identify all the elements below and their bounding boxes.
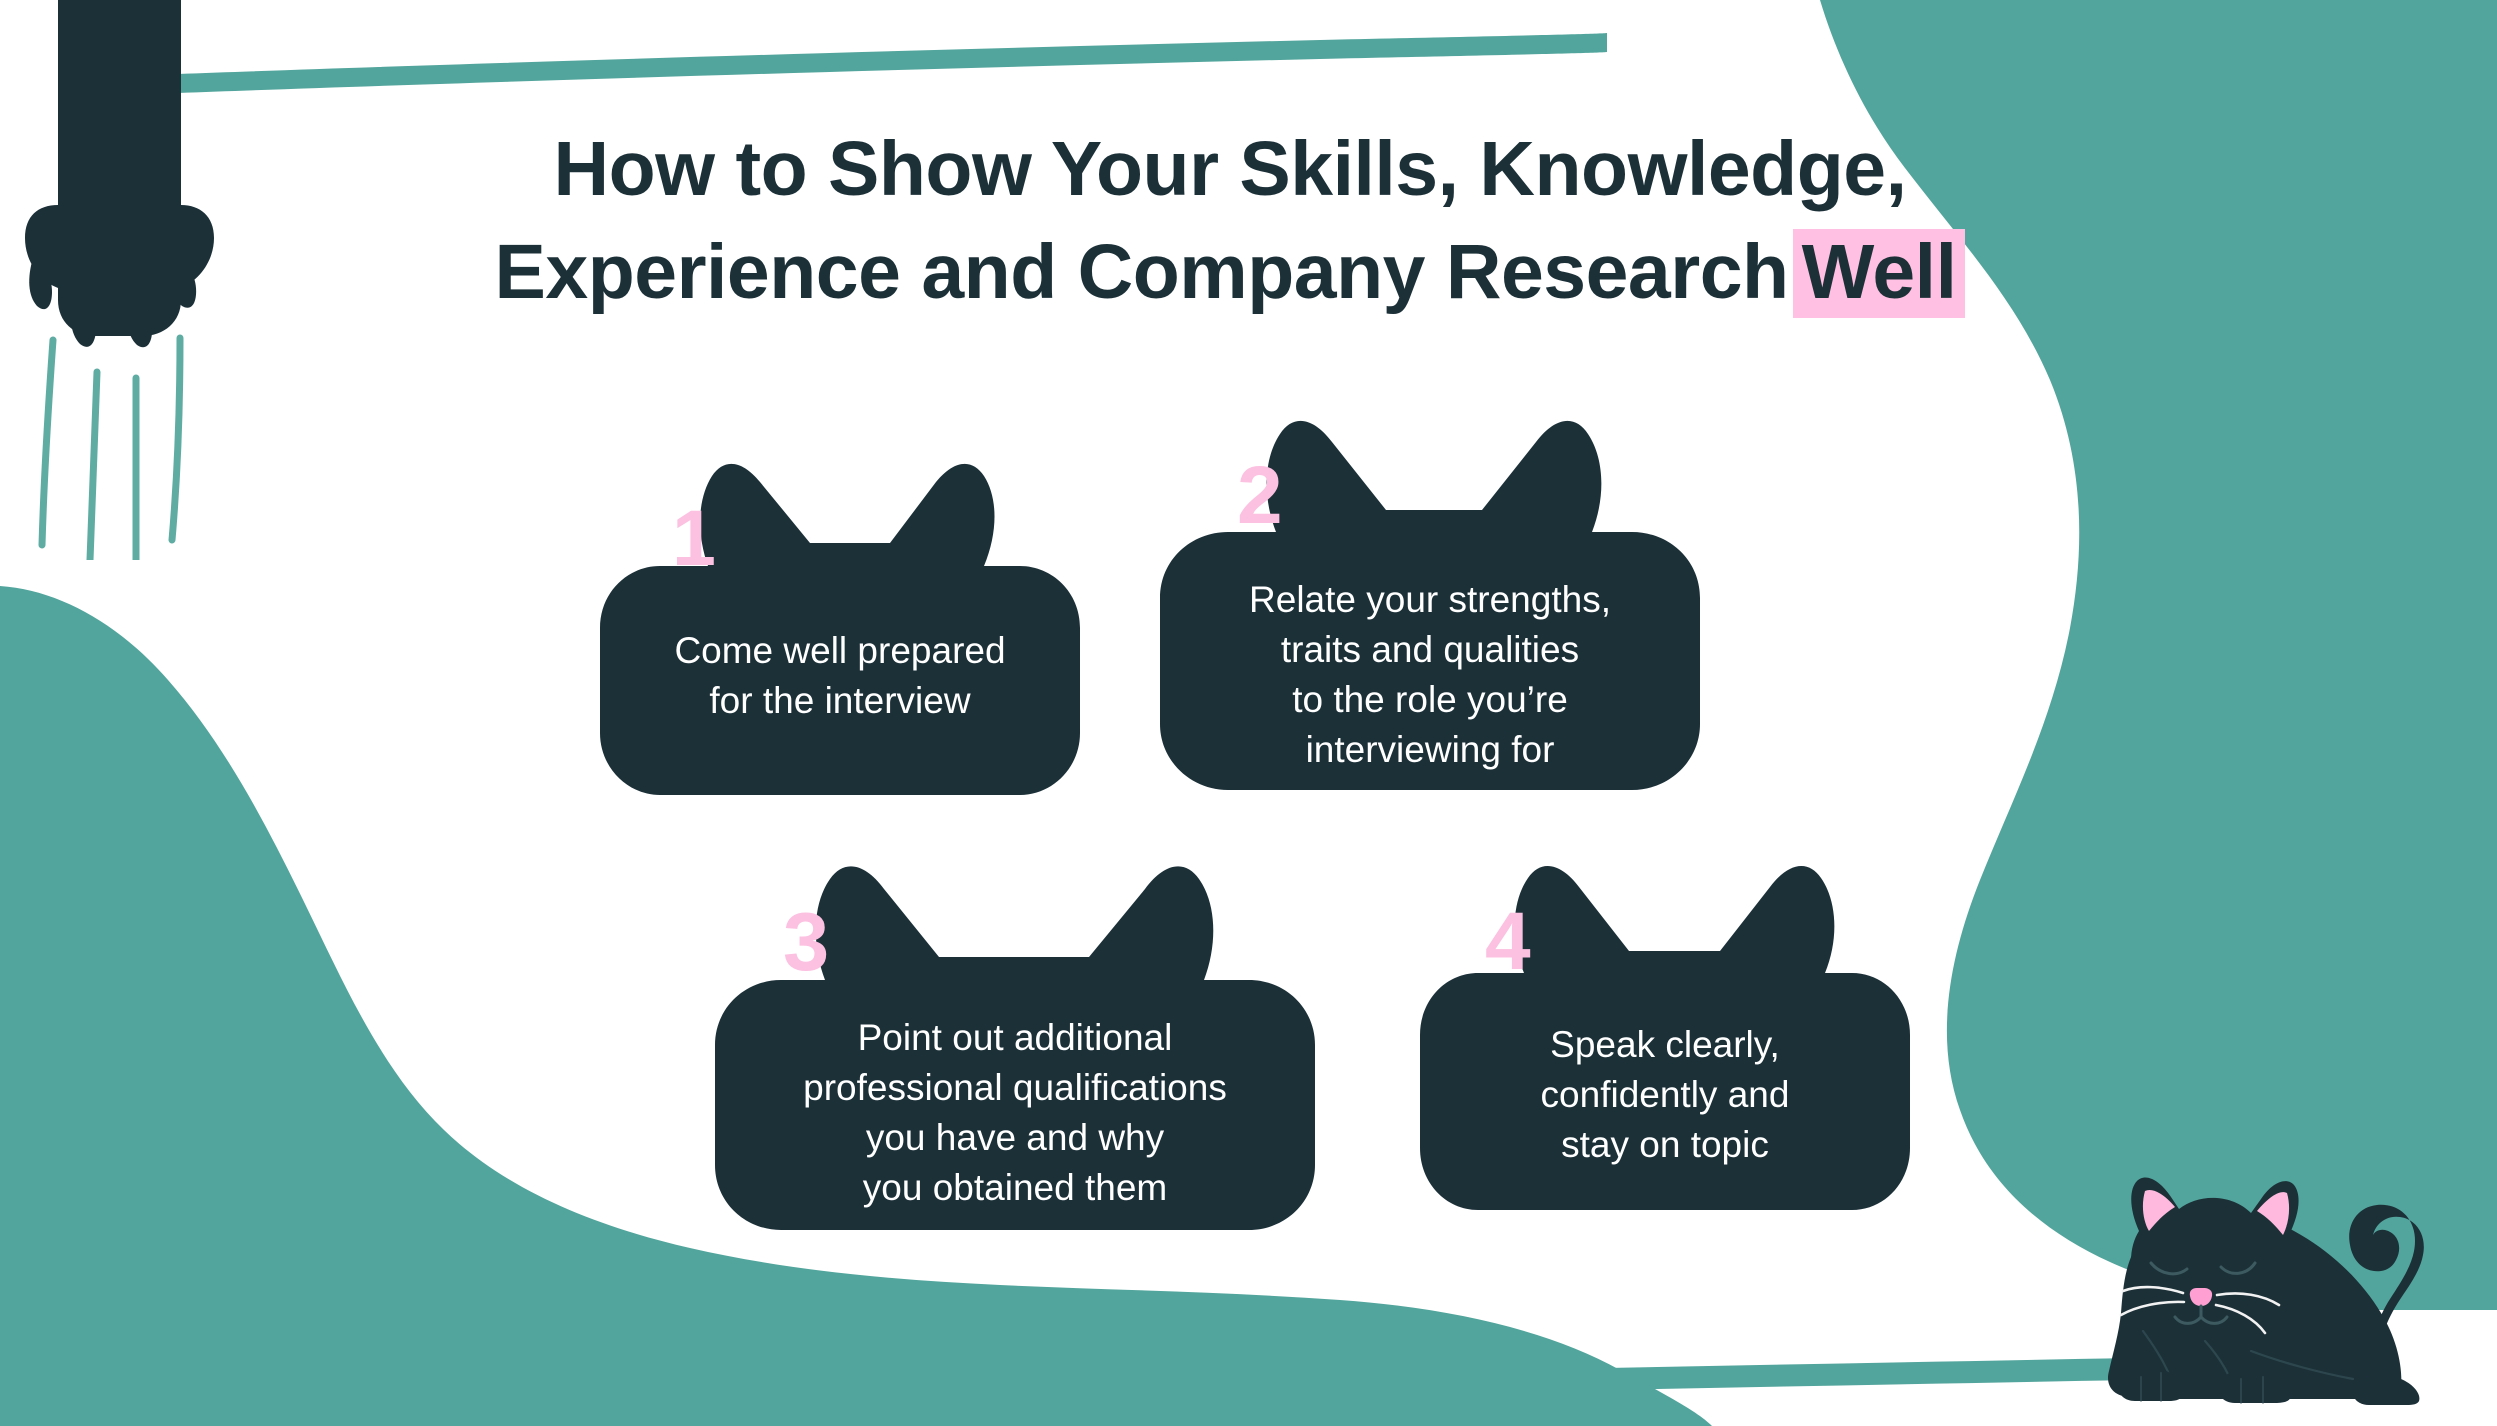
tip-card-1[interactable]: 1 Come well prepared for the interview bbox=[600, 440, 1080, 795]
tip-card-3-text: Point out additional professional qualif… bbox=[715, 1013, 1315, 1213]
cat-paw-decoration bbox=[0, 0, 300, 560]
title-line-1: How to Show Your Skills, Knowledge, bbox=[330, 118, 2130, 221]
reclining-cat-decoration bbox=[2085, 1145, 2497, 1426]
tip-card-2-number: 2 bbox=[1237, 455, 1283, 537]
tip-card-4-text: Speak clearly, confidently and stay on t… bbox=[1420, 1020, 1910, 1170]
tip-card-1-text: Come well prepared for the interview bbox=[600, 626, 1080, 726]
tip-card-4-number: 4 bbox=[1485, 901, 1531, 983]
title-line-2: Experience and Company ResearchWell bbox=[330, 221, 2130, 324]
tip-card-3-number: 3 bbox=[783, 900, 829, 983]
slide-canvas: How to Show Your Skills, Knowledge, Expe… bbox=[0, 0, 2497, 1426]
cat-paw-hind-icon bbox=[2353, 1375, 2419, 1405]
claw-scratch-marks-icon bbox=[42, 338, 180, 560]
tip-card-1-number: 1 bbox=[672, 498, 716, 577]
title-line-2-prefix: Experience and Company Research bbox=[495, 229, 1789, 315]
page-title: How to Show Your Skills, Knowledge, Expe… bbox=[330, 118, 2130, 324]
tip-card-3[interactable]: 3 Point out additional professional qual… bbox=[715, 845, 1315, 1230]
tip-card-4[interactable]: 4 Speak clearly, confidently and stay on… bbox=[1420, 845, 1910, 1210]
tip-card-2[interactable]: 2 Relate your strengths, traits and qual… bbox=[1160, 400, 1700, 790]
cat-paw-icon bbox=[25, 150, 214, 336]
title-highlight-well: Well bbox=[1793, 229, 1966, 318]
tip-card-2-text: Relate your strengths, traits and qualit… bbox=[1160, 575, 1700, 775]
teal-curve-stroke-icon bbox=[178, 33, 1607, 93]
